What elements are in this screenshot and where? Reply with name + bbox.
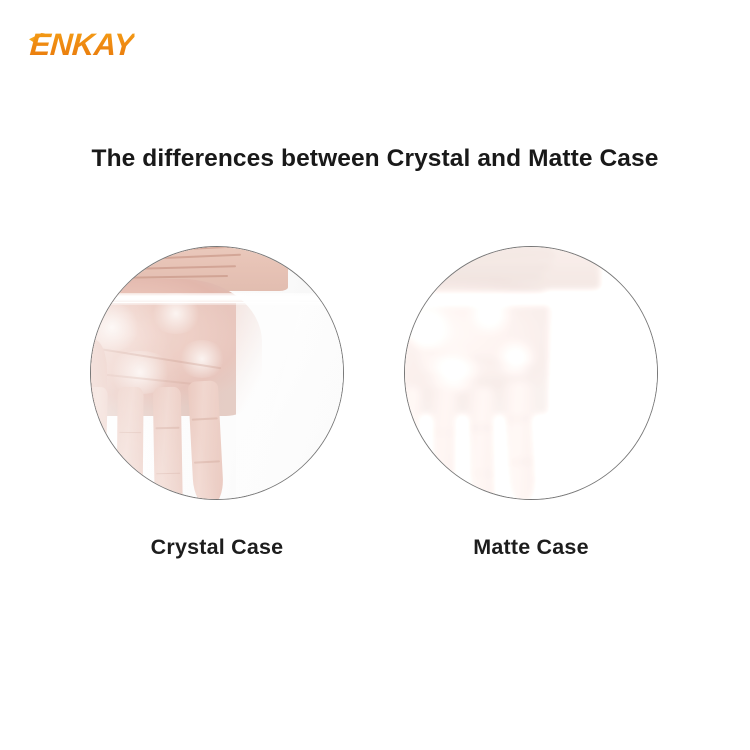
brand-name: ENKAY <box>29 27 135 63</box>
crystal-scene <box>90 246 344 500</box>
brand-logo: ENKAY <box>30 27 220 63</box>
comparison-item-matte <box>404 246 658 500</box>
caption-crystal-case: Crystal Case <box>90 535 344 560</box>
crystal-case-photo <box>90 246 344 500</box>
page-title: The differences between Crystal and Matt… <box>0 143 750 175</box>
matte-frost-overlay <box>405 247 657 499</box>
matte-case-photo <box>404 246 658 500</box>
comparison-row <box>0 246 750 502</box>
comparison-item-crystal <box>90 246 344 500</box>
case-gloss-reflection <box>90 303 217 500</box>
caption-matte-case: Matte Case <box>404 535 658 560</box>
